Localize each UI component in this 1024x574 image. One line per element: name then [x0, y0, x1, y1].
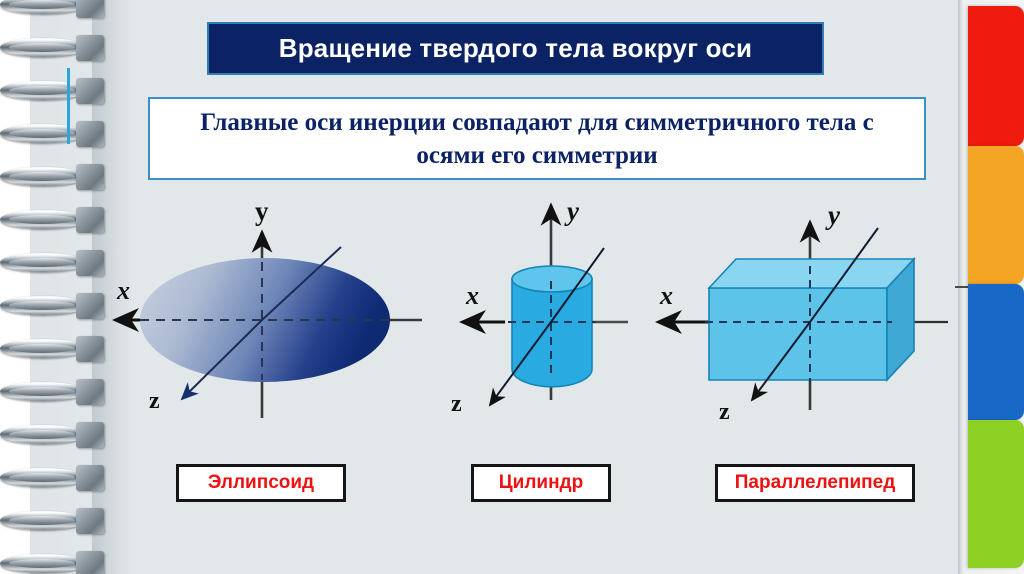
- box-front-face: [709, 288, 887, 380]
- ellipsoid-y-label: y: [255, 198, 269, 225]
- box-x-label: x: [660, 283, 673, 309]
- figure-ellipsoid: [115, 232, 422, 418]
- caption-parallelepiped: Параллелепипед: [715, 464, 915, 502]
- box-top-face: [709, 259, 914, 288]
- slide-canvas: Вращение твердого тела вокруг оси Главны…: [0, 0, 1024, 574]
- caption-parallelepiped-label: Параллелепипед: [735, 472, 896, 494]
- cylinder-x-label: x: [466, 283, 479, 309]
- cylinder-z-label: z: [451, 392, 462, 416]
- caption-ellipsoid: Эллипсоид: [176, 464, 346, 502]
- cylinder-y-label: y: [567, 198, 579, 225]
- ellipsoid-z-label: z: [149, 389, 160, 413]
- box-y-label: y: [828, 202, 840, 229]
- figure-cylinder: [462, 205, 628, 405]
- caption-cylinder: Цилиндр: [471, 464, 611, 502]
- caption-cylinder-label: Цилиндр: [499, 472, 583, 494]
- box-z-label: z: [719, 400, 730, 424]
- ellipsoid-x-label: x: [117, 278, 130, 304]
- figure-parallelepiped: [658, 222, 948, 410]
- caption-ellipsoid-label: Эллипсоид: [208, 472, 314, 494]
